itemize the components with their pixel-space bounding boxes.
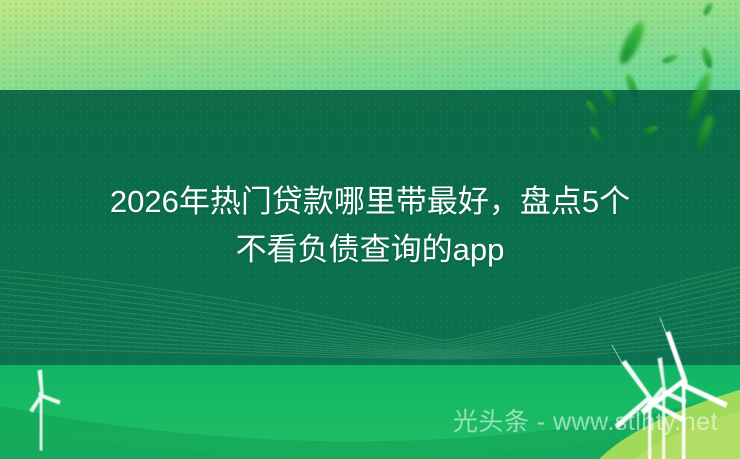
page-title: 2026年热门贷款哪里带最好，盘点5个 不看负债查询的app xyxy=(0,178,740,274)
poster-canvas: 2026年热门贷款哪里带最好，盘点5个 不看负债查询的app 光头条 - www… xyxy=(0,0,740,459)
curved-swoosh xyxy=(0,365,740,459)
bottom-green-band xyxy=(0,365,740,459)
